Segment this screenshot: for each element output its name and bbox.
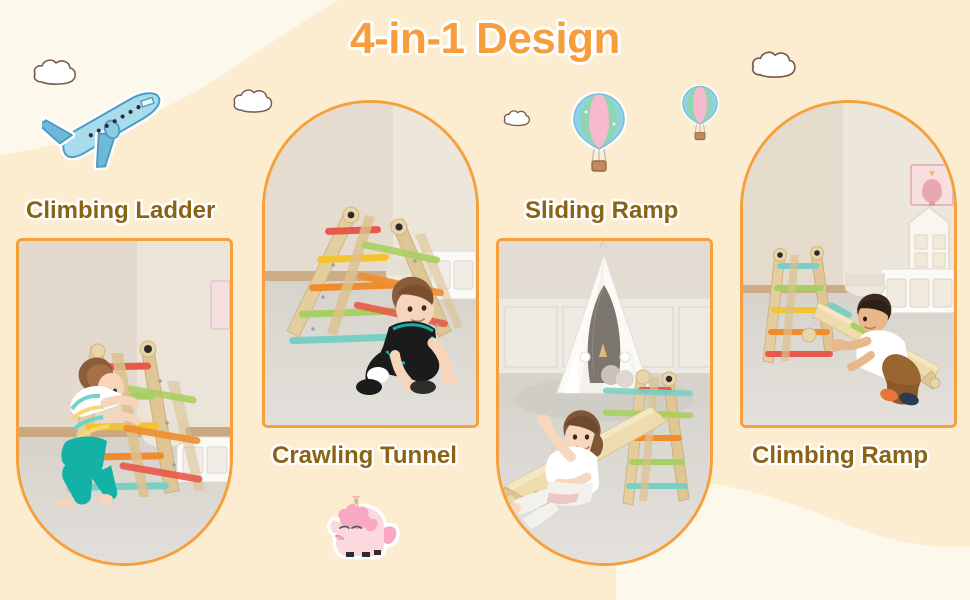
panel-crawling-tunnel[interactable] <box>262 100 479 428</box>
label-climbing-ladder: Climbing Ladder <box>26 197 215 225</box>
panel-climbing-ladder[interactable] <box>16 238 233 566</box>
hot-air-balloon-icon <box>680 85 720 143</box>
label-sliding-ramp: Sliding Ramp <box>525 197 678 225</box>
hot-air-balloon-icon <box>570 92 628 176</box>
panel-sliding-ramp[interactable] <box>496 238 713 566</box>
unicorn-icon <box>318 494 404 568</box>
cloud-icon <box>503 108 531 127</box>
infographic-canvas: 4-in-1 Design <box>0 0 970 600</box>
photo-climbing-ramp <box>743 103 954 425</box>
page-title: 4-in-1 Design <box>0 14 970 64</box>
label-crawling-tunnel: Crawling Tunnel <box>272 442 457 470</box>
photo-sliding-ramp <box>499 241 710 563</box>
airplane-icon <box>42 84 172 176</box>
photo-climbing-ladder <box>19 241 230 563</box>
label-climbing-ramp: Climbing Ramp <box>752 442 928 470</box>
photo-crawling-tunnel <box>265 103 476 425</box>
panel-climbing-ramp[interactable] <box>740 100 957 428</box>
